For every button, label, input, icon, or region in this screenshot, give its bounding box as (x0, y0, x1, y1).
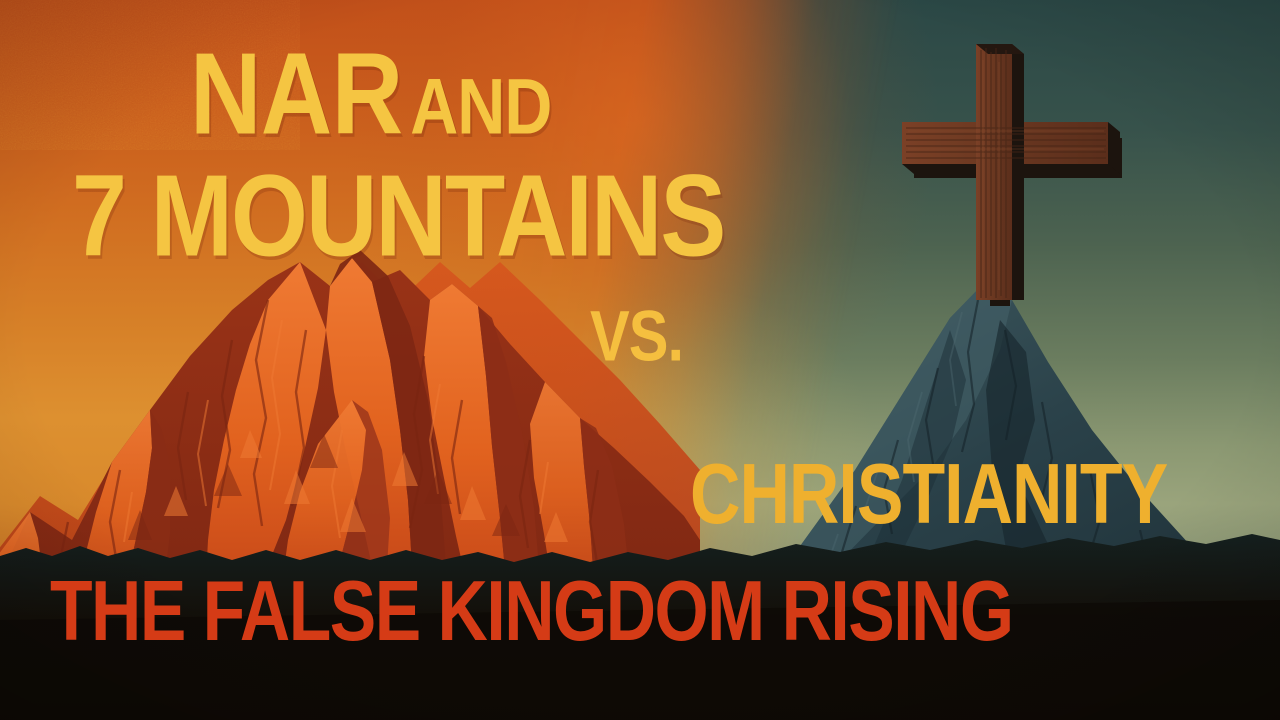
wooden-cross (902, 44, 1122, 306)
versus-label: VS. (590, 302, 683, 373)
headline-christianity: CHRISTIANITY (690, 452, 1167, 537)
subtitle-banner: THE FALSE KINGDOM RISING (50, 568, 1013, 653)
headline-line-1: NARAND (190, 36, 551, 152)
headline-nar: NAR (190, 29, 403, 159)
headline-and: AND (410, 63, 551, 150)
headline-line-2: 7 MOUNTAINS (72, 158, 724, 274)
title-card-poster: NARAND 7 MOUNTAINS VS. CHRISTIANITY THE … (0, 0, 1280, 720)
